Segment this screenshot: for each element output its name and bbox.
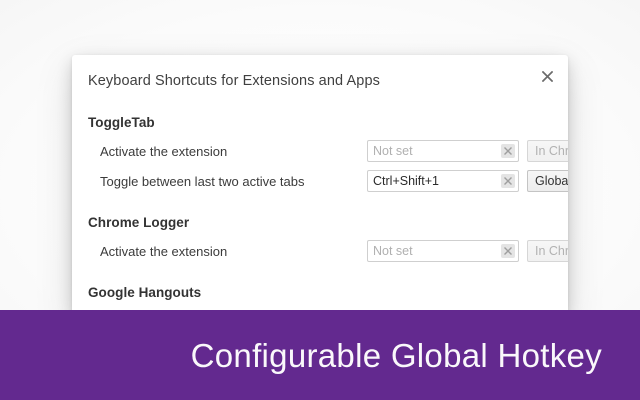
shortcut-row: Activate the extensionNot setIn Chrome [72,136,568,166]
shortcut-input[interactable]: Ctrl+Shift+1 [367,170,519,192]
extension-name: Chrome Logger [72,210,568,236]
banner-title: Configurable Global Hotkey [191,339,602,372]
scope-select: In Chrome [527,240,568,262]
shortcut-row: Activate the extensionNot setIn Chrome [72,236,568,266]
scope-select[interactable]: Global [527,170,568,192]
shortcut-input[interactable]: Not set [367,140,519,162]
close-button[interactable] [536,65,558,87]
shortcut-label: Activate the extension [100,244,367,259]
scope-select-value: Global [535,174,568,188]
shortcut-row: Toggle between last two active tabsCtrl+… [72,166,568,196]
scope-select-value: In Chrome [535,244,568,258]
promo-banner: Configurable Global Hotkey [0,310,640,400]
shortcut-label: Activate the extension [100,144,367,159]
clear-shortcut-icon[interactable] [501,144,515,158]
extension-name: ToggleTab [72,110,568,136]
shortcut-input-value: Ctrl+Shift+1 [368,174,439,188]
shortcut-input-value: Not set [368,244,413,258]
close-icon [542,71,553,82]
shortcut-input-value: Not set [368,144,413,158]
shortcut-input[interactable]: Not set [367,240,519,262]
shortcut-label: Toggle between last two active tabs [100,174,367,189]
extension-section: Google HangoutsActivate the extensionNot… [72,280,568,313]
clear-shortcut-icon[interactable] [501,244,515,258]
screenshot-root: Keyboard Shortcuts for Extensions and Ap… [0,0,640,400]
extension-name: Google Hangouts [72,280,568,306]
scope-select: In Chrome [527,140,568,162]
scope-select-value: In Chrome [535,144,568,158]
extension-section: Chrome LoggerActivate the extensionNot s… [72,210,568,266]
extension-section: ToggleTabActivate the extensionNot setIn… [72,110,568,196]
clear-shortcut-icon[interactable] [501,174,515,188]
keyboard-shortcuts-dialog: Keyboard Shortcuts for Extensions and Ap… [72,55,568,313]
dialog-title: Keyboard Shortcuts for Extensions and Ap… [88,73,380,89]
shortcuts-list: ToggleTabActivate the extensionNot setIn… [72,110,568,313]
